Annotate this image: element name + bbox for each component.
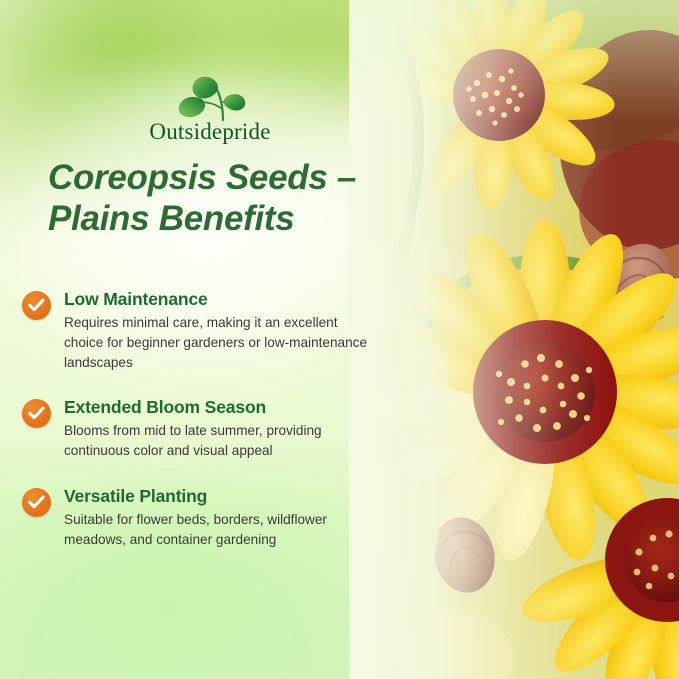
list-item: Extended Bloom Season Blooms from mid to… [22,397,398,461]
benefit-title: Extended Bloom Season [64,397,398,418]
benefit-title: Low Maintenance [64,289,398,310]
benefit-title: Versatile Planting [64,486,398,507]
page-title-line2: Plains Benefits [48,199,294,238]
brand-name: Outsidepride [140,120,280,144]
content-column: Outsidepride Coreopsis Seeds – Plains Be… [0,0,420,679]
promo-card: Outsidepride Coreopsis Seeds – Plains Be… [0,0,679,679]
check-glyph [28,495,45,510]
benefits-list: Low Maintenance Requires minimal care, m… [22,289,398,550]
benefit-description: Requires minimal care, making it an exce… [64,313,379,373]
list-item: Versatile Planting Suitable for flower b… [22,486,398,550]
check-glyph [28,298,45,313]
check-circle-icon [22,488,51,517]
check-glyph [28,406,45,421]
benefit-description: Blooms from mid to late summer, providin… [64,421,379,461]
list-item: Low Maintenance Requires minimal care, m… [22,289,398,373]
check-circle-icon [22,291,51,320]
brand-logo: Outsidepride [140,74,280,144]
check-circle-icon [22,399,51,428]
page-title-line1: Coreopsis Seeds – [48,158,356,197]
page-title: Coreopsis Seeds – Plains Benefits [48,158,398,240]
benefit-description: Suitable for flower beds, borders, wildf… [64,510,379,550]
leaf-sprig-icon [171,74,249,122]
